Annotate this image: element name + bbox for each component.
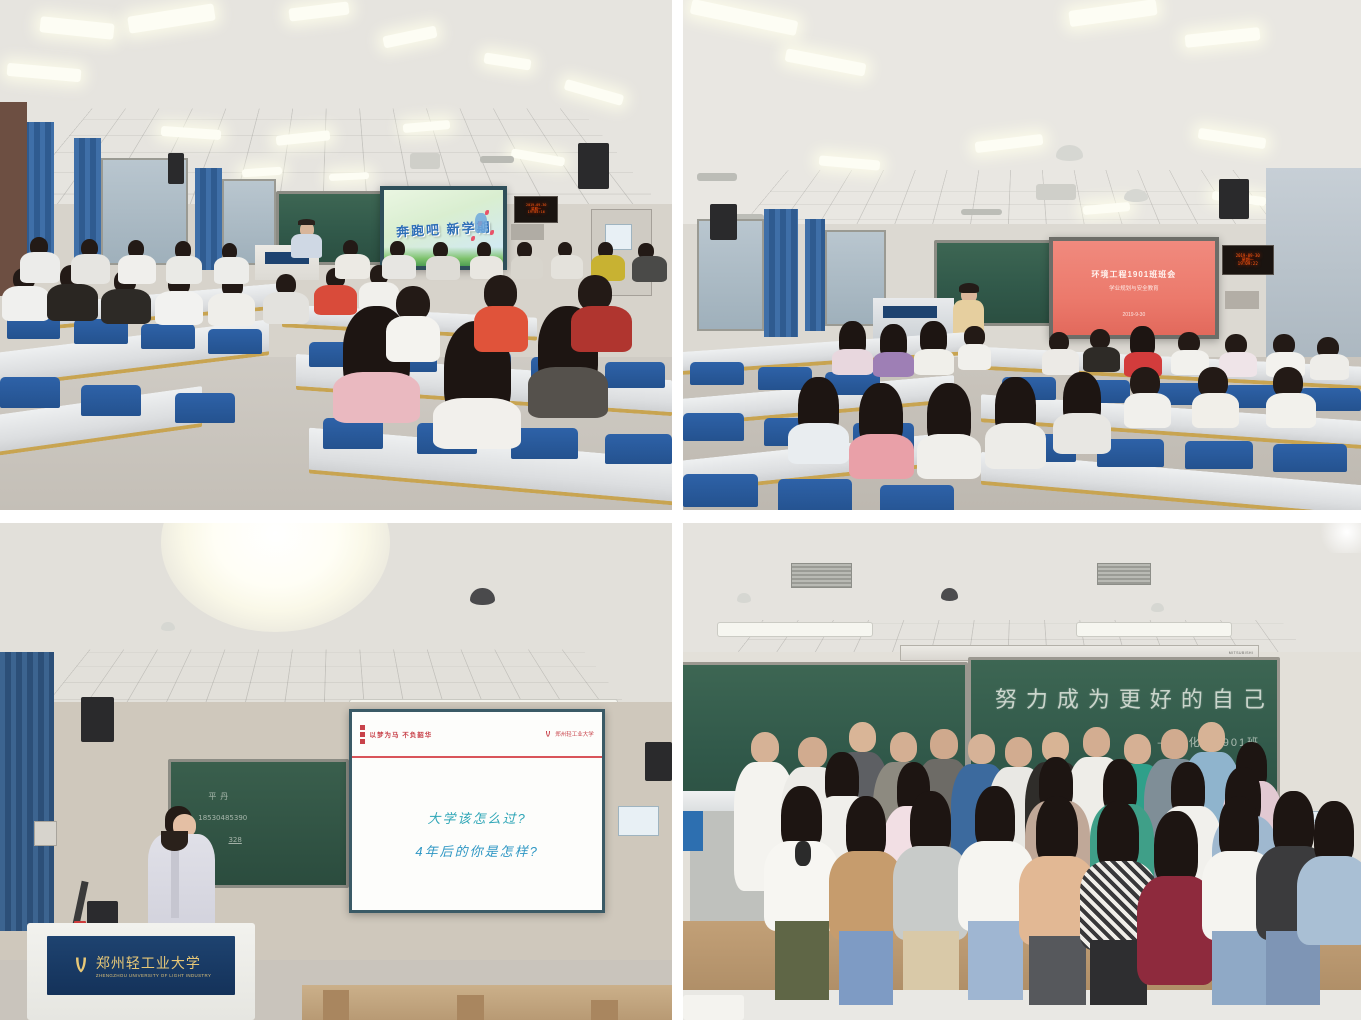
ceiling-vent [1097, 563, 1151, 585]
slide-line-2: 4年后的你是怎样? [415, 841, 538, 860]
ceiling-fan [697, 173, 738, 180]
projection-screen: 环境工程1901班班会 学业规划与安全教育 2019-9-30 [1049, 237, 1219, 339]
student-body [528, 367, 609, 418]
projector [1036, 184, 1077, 200]
led-clock: 2019-09-30 星期一 19:09:22 [1222, 245, 1274, 276]
instructor-hair [959, 283, 979, 293]
projection-screen: 以梦为马 不负韶华 郑州轻工业大学 大学该怎么过? 4年后的你是怎样? [349, 709, 604, 913]
photo-top-left: 奔跑吧 新学期 2019-09-30 星期一 19:05:16 [0, 0, 672, 510]
ceiling-sensor [161, 622, 174, 631]
ceiling-light [1076, 622, 1232, 637]
slide-header-text: 以梦为马 不负韶华 [369, 729, 432, 739]
chair [778, 479, 853, 510]
slide-figure [475, 213, 487, 233]
student-body [474, 306, 528, 352]
slide-date: 2019-9-30 [1122, 312, 1145, 318]
chair [81, 385, 141, 416]
university-logo-icon [544, 730, 552, 738]
slide-subtitle: 学业规划与安全教育 [1109, 284, 1159, 292]
chair [683, 474, 758, 507]
blackboard-note: 328 [228, 836, 241, 844]
desk-leg [457, 995, 484, 1020]
chair [1185, 441, 1253, 469]
projector [410, 153, 440, 169]
blackboard-note: 18530485390 [198, 814, 247, 822]
ceiling-sensor [1151, 603, 1165, 613]
trousers [839, 931, 893, 1006]
wall-notice [618, 806, 658, 836]
chair [880, 485, 955, 511]
window-curtain [0, 652, 54, 930]
blackboard-note: 平丹 [208, 791, 232, 802]
ceiling-speaker [1056, 145, 1083, 160]
chair [683, 413, 744, 441]
led-time: 19:09:22 [1238, 262, 1258, 266]
speaker [81, 697, 115, 742]
chair [690, 362, 744, 385]
slide-header-marks [360, 725, 365, 744]
slide-header-logo: 郑州轻工业大学 [544, 730, 594, 738]
instructor-body [291, 234, 322, 258]
podium-plate [883, 306, 937, 318]
desk-leg [591, 1000, 618, 1020]
skirt [903, 931, 959, 991]
student-body [386, 316, 440, 362]
neck-scarf [795, 841, 811, 866]
student-body [433, 398, 520, 449]
podium-name-cn: 郑州轻工业大学 [96, 953, 201, 973]
instructor-hair [298, 219, 315, 225]
instructor-hair-back [161, 831, 188, 851]
slide-body: 大学该怎么过? 4年后的你是怎样? [352, 758, 601, 910]
led-time: 19:05:16 [528, 211, 545, 215]
chair [141, 324, 195, 350]
ceiling-camera [470, 588, 494, 605]
slide-content: 环境工程1901班班会 学业规划与安全教育 2019-9-30 [1053, 241, 1215, 335]
slide-title: 环境工程1901班班会 [1091, 269, 1176, 280]
slide-content: 以梦为马 不负韶华 郑州轻工业大学 大学该怎么过? 4年后的你是怎样? [352, 712, 601, 910]
window-curtain [195, 168, 222, 270]
slide-petal [485, 210, 489, 215]
window-curtain [805, 219, 825, 331]
photo-bottom-left: 平丹 18530485390 328 以梦为马 不负韶华 [0, 523, 672, 1020]
speaker [1219, 179, 1250, 220]
trousers [1212, 931, 1266, 1006]
chair [605, 362, 665, 388]
ceiling-vent [791, 563, 852, 588]
ceiling-fan [961, 209, 1002, 215]
ceiling-light [717, 622, 873, 637]
trousers [1029, 936, 1086, 1006]
speaker [710, 204, 737, 240]
speaker [168, 153, 184, 184]
window-curtain [764, 209, 798, 337]
ceiling-sensor [737, 593, 751, 603]
desk-leg [323, 990, 350, 1020]
slide-petal [471, 236, 475, 241]
chair [605, 434, 672, 465]
chair [1273, 444, 1348, 472]
photo-collage: 奔跑吧 新学期 2019-09-30 星期一 19:05:16 [0, 0, 1361, 1020]
university-logo-icon [71, 954, 91, 976]
podium-name-plate: 郑州轻工业大学 ZHENGZHOU UNIVERSITY OF LIGHT IN… [47, 936, 235, 996]
projector-brand-label: MITSUBISHI [1229, 651, 1254, 655]
chair [0, 377, 60, 408]
speaker [645, 742, 672, 782]
blackboard-slogan: 努力成为更好的自己 [995, 682, 1274, 714]
student-body [333, 372, 420, 423]
slide-line-1: 大学该怎么过? [428, 808, 527, 827]
photo-top-right: 环境工程1901班班会 学业规划与安全教育 2019-9-30 2019-09-… [683, 0, 1361, 510]
student-body [571, 306, 631, 352]
wall-plate [511, 224, 545, 239]
bag-on-floor [683, 995, 744, 1020]
chair [208, 329, 262, 355]
led-clock: 2019-09-30 星期一 19:05:16 [514, 196, 558, 223]
ceiling-speaker [1124, 189, 1148, 202]
wall-switch [34, 821, 58, 846]
trousers [775, 921, 829, 1001]
speaker [578, 143, 609, 189]
ceiling-fan [480, 156, 514, 163]
slide-petal [490, 230, 494, 235]
podium-name-en: ZHENGZHOU UNIVERSITY OF LIGHT INDUSTRY [96, 973, 211, 978]
chair [175, 393, 235, 424]
desk-panel [683, 811, 703, 851]
wall-plate [1225, 291, 1259, 309]
trousers [968, 921, 1024, 1001]
photo-bottom-right: MITSUBISHI 努力成为更好的自己 —— 化学1901班 品保险箱 [683, 523, 1361, 1020]
slide-header: 以梦为马 不负韶华 郑州轻工业大学 [352, 712, 601, 757]
chair [511, 428, 578, 459]
window-glare [1314, 523, 1361, 553]
slide-logo-text: 郑州轻工业大学 [555, 730, 594, 738]
